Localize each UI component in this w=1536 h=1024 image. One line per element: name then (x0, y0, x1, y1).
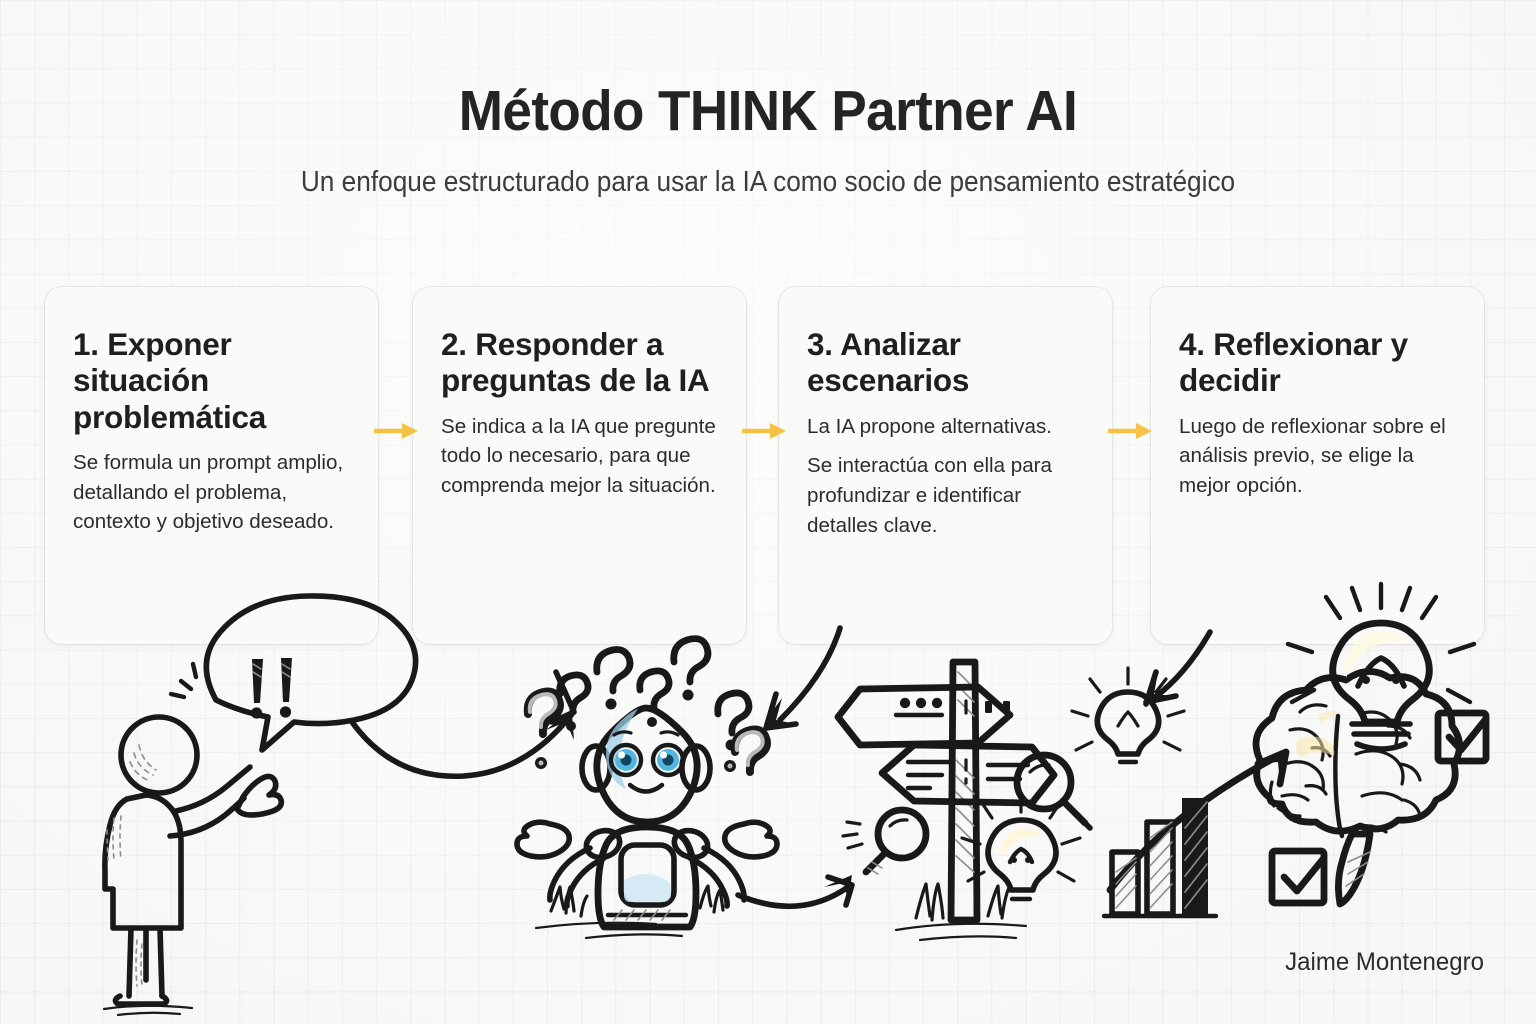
step-card-3-body: La IA propone alternativas. Se interactú… (807, 412, 1086, 541)
step-card-2[interactable]: 2. Responder a preguntas de la IA Se ind… (413, 287, 746, 644)
arrow-right-icon-step1-to-step2 (374, 420, 420, 442)
step-card-2-paragraph: Se indica a la IA que pregunte todo lo n… (441, 412, 720, 501)
question-mark-icons (528, 639, 767, 772)
step-card-1-body: Se formula un prompt amplio, detallando … (73, 448, 352, 537)
step-card-3[interactable]: 3. Analizar escenarios La IA propone alt… (779, 287, 1112, 644)
lightbulb-icon-yellow (962, 794, 1080, 899)
step-card-2-title: 2. Responder a preguntas de la IA (441, 326, 720, 399)
step-card-1-title: 1. Exponer situación problemática (73, 326, 352, 435)
step-card-1-paragraph: Se formula un prompt amplio, detallando … (73, 448, 352, 537)
page-subtitle: Un enfoque estructurado para usar la IA … (61, 166, 1474, 199)
step-card-3-title: 3. Analizar escenarios (807, 326, 1086, 399)
hand-arrow-lower-robot-to-signpost (738, 875, 852, 906)
step-card-2-body: Se indica a la IA que pregunte todo lo n… (441, 412, 720, 501)
step-card-3-paragraph-2: Se interactúa con ella para profundizar … (807, 451, 1086, 540)
page-title: Método THINK Partner AI (54, 78, 1482, 144)
arrow-right-icon-step2-to-step3 (742, 420, 788, 442)
brain-icon (1256, 671, 1460, 904)
checkbox-checked-icon-lower (1272, 851, 1324, 903)
step-card-4-paragraph: Luego de reflexionar sobre el análisis p… (1179, 412, 1458, 501)
checkbox-checked-icon-upper (1438, 713, 1486, 761)
step-card-4-body: Luego de reflexionar sobre el análisis p… (1179, 412, 1458, 501)
step-card-1[interactable]: 1. Exponer situación problemática Se for… (45, 287, 378, 644)
hand-arrow-person-to-robot (352, 672, 574, 776)
arrow-right-icon-step3-to-step4 (1108, 420, 1154, 442)
step-card-3-paragraph-1: La IA propone alternativas. (807, 412, 1086, 442)
lightbulb-icon-outline (1072, 668, 1184, 762)
infographic-canvas: Método THINK Partner AI Un enfoque estru… (0, 0, 1536, 1024)
header: Método THINK Partner AI Un enfoque estru… (0, 0, 1536, 199)
step-card-4-title: 4. Reflexionar y decidir (1179, 326, 1458, 399)
author-signature: Jaime Montenegro (1285, 948, 1484, 977)
robot-shrugging-illustration (517, 639, 777, 938)
person-pointing-illustration (104, 596, 416, 1015)
step-card-4[interactable]: 4. Reflexionar y decidir Luego de reflex… (1151, 287, 1484, 644)
signpost-illustration (838, 662, 1184, 940)
